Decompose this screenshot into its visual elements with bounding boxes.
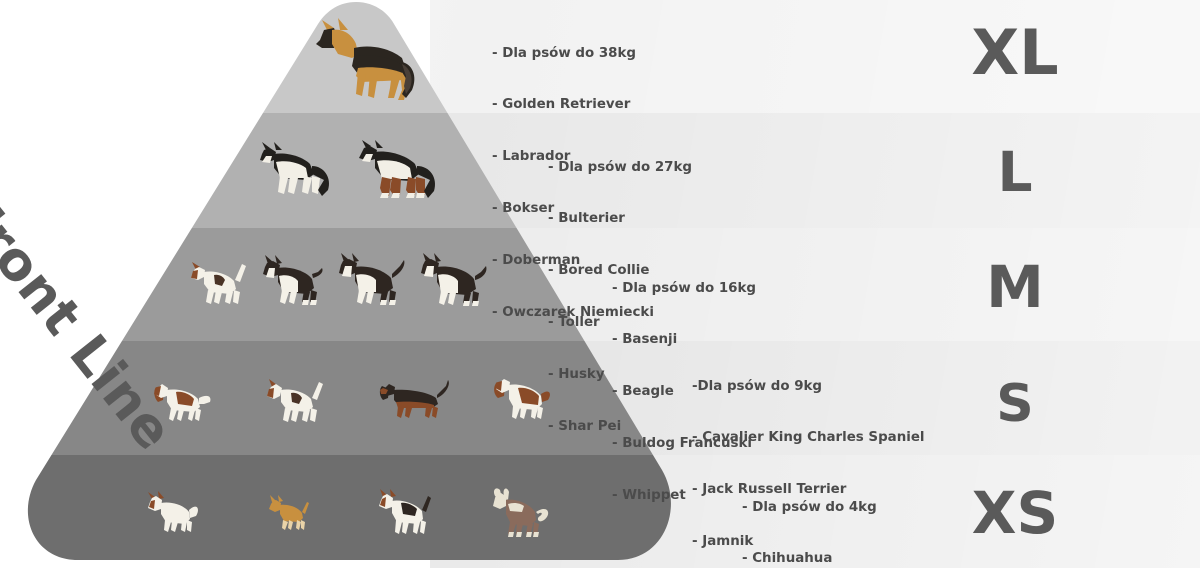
breed-line: - Dla psów do 38kg — [492, 45, 654, 62]
dog-illustration-boston-terrier — [262, 254, 328, 310]
dog-illustration-pinczer-miniaturowy — [378, 488, 434, 538]
dog-illustration-grzywacz-chinski — [490, 484, 552, 542]
breed-list-xs: - Dla psów do 4kg - Chihuahua - Grzywacz… — [742, 464, 906, 568]
breed-line: - Dla psów do 4kg — [742, 499, 906, 516]
dog-illustration-shih-tzu — [492, 372, 554, 426]
dog-illustration-papillon — [146, 490, 200, 536]
breed-line: - Dla psów do 27kg — [548, 159, 692, 176]
size-label-m: M — [935, 258, 1095, 316]
size-label-xl: XL — [935, 22, 1095, 84]
breed-line: - Chihuahua — [742, 550, 906, 567]
breed-line: - Golden Retriever — [492, 96, 654, 113]
breed-line: -Dla psów do 9kg — [692, 378, 925, 395]
dog-illustration-german-shepherd — [312, 14, 420, 104]
breed-line: - Bulterier — [548, 210, 692, 227]
dog-illustration-french-bulldog — [420, 252, 490, 310]
breed-line: - Dla psów do 16kg — [612, 280, 756, 297]
dog-illustration-collie-2 — [358, 138, 442, 202]
dog-illustration-bull-terrier — [338, 252, 408, 310]
dog-illustration-jack-russell — [190, 258, 252, 310]
size-label-xs: XS — [935, 484, 1095, 542]
dog-illustration-chihuahua — [268, 494, 310, 534]
size-label-s: S — [935, 378, 1095, 430]
dog-illustration-cavalier-king-charles — [152, 378, 214, 426]
breed-line: - Cavalier King Charles Spaniel — [692, 429, 925, 446]
dog-illustration-jack-russell-s — [266, 376, 328, 426]
dog-illustration-dachshund — [378, 378, 454, 424]
dog-illustration-collie-1 — [258, 140, 336, 200]
infographic-canvas: Front Line — [0, 0, 1200, 568]
size-label-l: L — [935, 145, 1095, 200]
